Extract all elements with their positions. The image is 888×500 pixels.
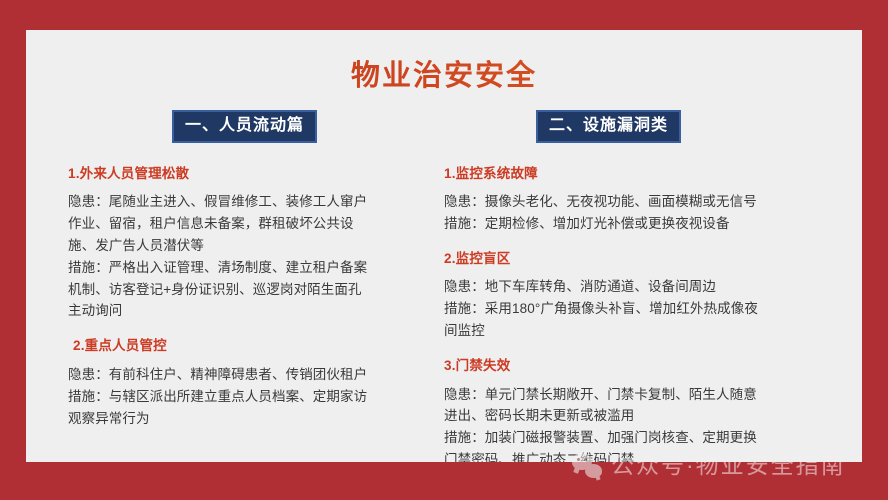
subsection-title: 2.重点人员管控 [68,337,420,355]
subsection: 3.门禁失效 隐患：单元门禁长期敞开、门禁卡复制、陌生人随意 进出、密码长期未更… [444,357,844,462]
body-line: 隐患：尾随业主进入、假冒维修工、装修工人窜户 [68,191,420,213]
body-line: 主动询问 [68,300,420,322]
body-line: 隐患：有前科住户、精神障碍患者、传销团伙租户 [68,364,420,386]
body-line: 措施：加装门磁报警装置、加强门岗核查、定期更换 [444,427,844,449]
subsection: 1.外来人员管理松散 隐患：尾随业主进入、假冒维修工、装修工人窜户 作业、留宿，… [68,165,420,323]
subsection-title: 1.监控系统故障 [444,165,844,183]
right-section-header-wrap: 二、设施漏洞类 [444,110,844,143]
subsection-body: 隐患：地下车库转角、消防通道、设备间周边 措施：采用180°广角摄像头补盲、增加… [444,276,844,342]
page-title: 物业治安安全 [26,52,862,94]
body-line: 观察异常行为 [68,408,420,430]
body-line: 门禁密码、推广动态二维码门禁 [444,449,844,462]
subsection-title: 1.外来人员管理松散 [68,165,420,183]
body-line: 措施：与辖区派出所建立重点人员档案、定期家访 [68,386,420,408]
body-line: 措施：采用180°广角摄像头补盲、增加红外热成像夜 [444,298,844,320]
subsection-body: 隐患：尾随业主进入、假冒维修工、装修工人窜户 作业、留宿，租户信息未备案，群租破… [68,191,420,322]
section-header-personnel-flow: 一、人员流动篇 [172,110,317,143]
subsection: 2.重点人员管控 隐患：有前科住户、精神障碍患者、传销团伙租户 措施：与辖区派出… [68,337,420,429]
body-line: 措施：定期检修、增加灯光补偿或更换夜视设备 [444,213,844,235]
body-line: 进出、密码长期未更新或被滥用 [444,405,844,427]
slide-root: 物业治安安全 一、人员流动篇 1.外来人员管理松散 隐患：尾随业主进入、假冒维修… [0,0,888,500]
body-line: 间监控 [444,320,844,342]
body-line: 隐患：单元门禁长期敞开、门禁卡复制、陌生人随意 [444,384,844,406]
right-column: 二、设施漏洞类 1.监控系统故障 隐患：摄像头老化、无夜视功能、画面模糊或无信号… [430,110,862,462]
left-column: 一、人员流动篇 1.外来人员管理松散 隐患：尾随业主进入、假冒维修工、装修工人窜… [26,110,430,462]
subsection: 1.监控系统故障 隐患：摄像头老化、无夜视功能、画面模糊或无信号 措施：定期检修… [444,165,844,235]
body-line: 机制、访客登记+身份证识别、巡逻岗对陌生面孔 [68,279,420,301]
body-line: 隐患：摄像头老化、无夜视功能、画面模糊或无信号 [444,191,844,213]
body-line: 施、发广告人员潜伏等 [68,235,420,257]
body-line: 隐患：地下车库转角、消防通道、设备间周边 [444,276,844,298]
subsection-body: 隐患：摄像头老化、无夜视功能、画面模糊或无信号 措施：定期检修、增加灯光补偿或更… [444,191,844,235]
two-column-layout: 一、人员流动篇 1.外来人员管理松散 隐患：尾随业主进入、假冒维修工、装修工人窜… [26,110,862,462]
left-section-header-wrap: 一、人员流动篇 [68,110,420,143]
subsection-body: 隐患：单元门禁长期敞开、门禁卡复制、陌生人随意 进出、密码长期未更新或被滥用 措… [444,384,844,462]
subsection: 2.监控盲区 隐患：地下车库转角、消防通道、设备间周边 措施：采用180°广角摄… [444,250,844,342]
content-panel: 物业治安安全 一、人员流动篇 1.外来人员管理松散 隐患：尾随业主进入、假冒维修… [26,30,862,462]
subsection-body: 隐患：有前科住户、精神障碍患者、传销团伙租户 措施：与辖区派出所建立重点人员档案… [68,364,420,430]
section-header-facility-vulnerability: 二、设施漏洞类 [536,110,681,143]
body-line: 措施：严格出入证管理、清场制度、建立租户备案 [68,257,420,279]
subsection-title: 3.门禁失效 [444,357,844,375]
subsection-title: 2.监控盲区 [444,250,844,268]
body-line: 作业、留宿，租户信息未备案，群租破坏公共设 [68,213,420,235]
